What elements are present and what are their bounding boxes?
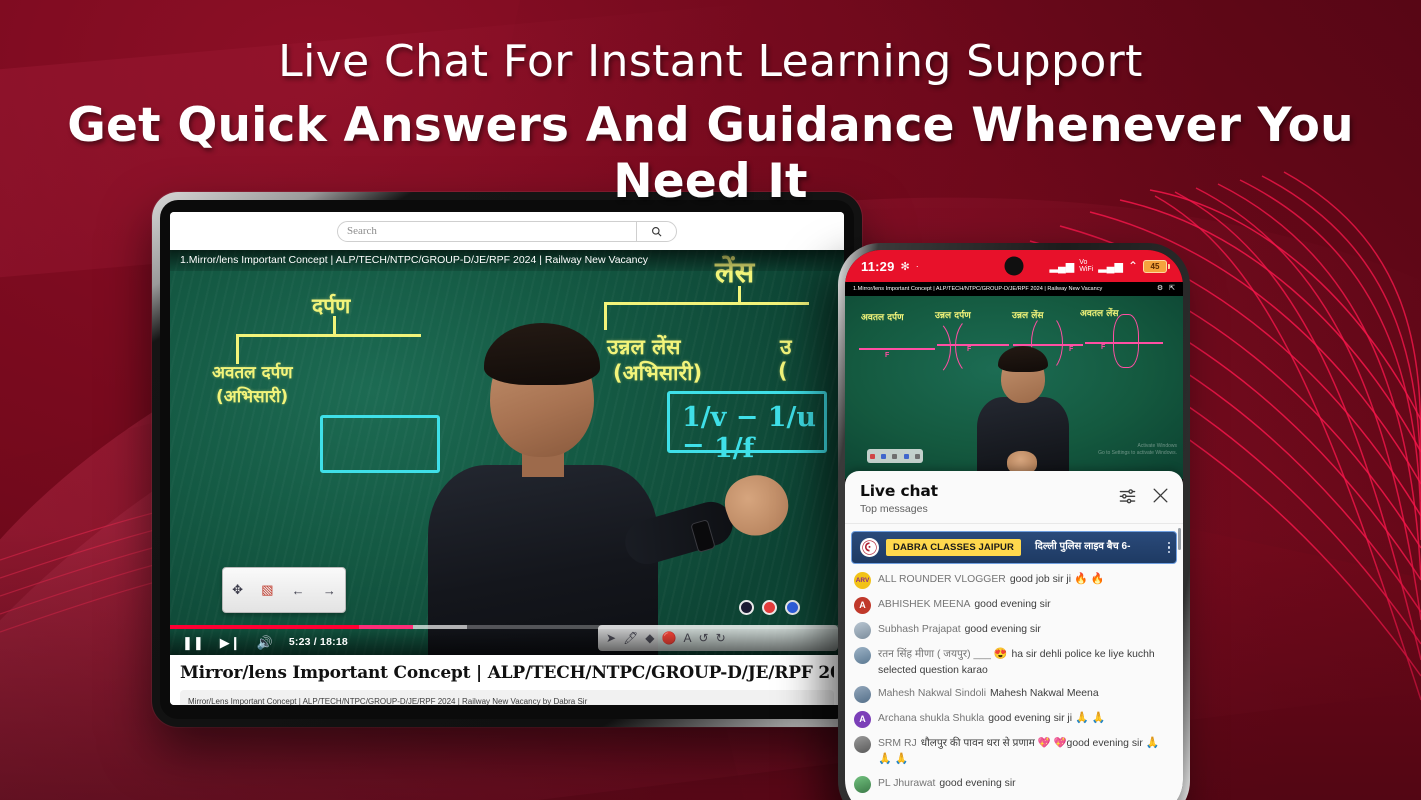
chat-author-name[interactable]: Archana shukla Shukla xyxy=(878,713,984,724)
signal2-icon: ▂▄▆ xyxy=(1098,260,1123,273)
cast-icon[interactable]: ⇱ xyxy=(1169,282,1175,296)
pen-tool-icon[interactable]: ▧ xyxy=(261,582,273,598)
phone-video-title-text: 1.Mirror/lens Important Concept | ALP/TE… xyxy=(853,282,1102,296)
instructor-hair xyxy=(484,323,600,385)
chat-author-name[interactable]: Mahesh Nakwal Sindoli xyxy=(878,688,986,699)
chat-message-text: good evening sir ji xyxy=(988,713,1072,724)
chat-author-name[interactable]: Subhash Prajapat xyxy=(878,624,961,635)
avatar xyxy=(854,622,871,639)
chalk-connector-h-left xyxy=(236,334,421,337)
windows-activation-watermark: Activate Windows Go to Settings to activ… xyxy=(1098,443,1177,457)
avatar xyxy=(854,736,871,753)
phone-device: 11:29 ✻ · ▂▄▆ VoWiFi ▂▄▆ ⌃ 45 1.Mirror/l… xyxy=(838,243,1190,800)
status-bar-right: ▂▄▆ VoWiFi ▂▄▆ ⌃ 45 xyxy=(1050,259,1168,273)
chat-message-body: PL Jhurawatgood evening sir xyxy=(878,776,1016,791)
volume-icon[interactable]: 🔊 xyxy=(257,636,273,649)
signal-icon: ▂▄▆ xyxy=(1050,260,1075,273)
headline-block: Live Chat For Instant Learning Support G… xyxy=(0,36,1421,211)
pen-color-black[interactable] xyxy=(739,600,754,615)
chat-message-row[interactable]: A Archana shukla Shuklagood evening sir … xyxy=(845,707,1183,732)
phone-focus-mark-2: F xyxy=(967,346,971,353)
chat-message-row[interactable]: A ABHISHEK MEENAgood evening sir xyxy=(845,593,1183,618)
chat-message-body: ABHISHEK MEENAgood evening sir xyxy=(878,597,1051,612)
live-chat-titles: Live chat Top messages xyxy=(860,482,1118,515)
chalk-connector-v-right xyxy=(738,286,741,304)
search-bar[interactable]: Search xyxy=(337,221,677,242)
wifi-icon: ⌃ xyxy=(1128,259,1138,273)
phone-lens-arc-4 xyxy=(1113,314,1139,368)
chalk-fourth-label-sub: ( xyxy=(778,359,788,383)
chalk-connector-h-right xyxy=(604,302,809,305)
phone-annotation-tray[interactable] xyxy=(867,449,923,463)
tray-gray-icon[interactable] xyxy=(892,454,897,459)
live-chat-header-actions[interactable] xyxy=(1118,482,1170,505)
phone-instructor-hair xyxy=(998,346,1048,372)
chalk-connector-v-left xyxy=(333,316,336,336)
kebab-icon[interactable] xyxy=(1168,540,1171,556)
chat-message-body: रतन सिंह मीणा ( जयपुर) ___ 😍ha sir dehli… xyxy=(878,647,1169,678)
chat-message-text: good evening sir xyxy=(965,624,1041,635)
phone-video-player[interactable]: अवतल दर्पण उन्नल दर्पण उन्नल लेंस अवतल ल… xyxy=(845,296,1183,479)
video-description[interactable]: Mirror/Lens Important Concept | ALP/TECH… xyxy=(180,690,834,705)
live-chat-messages[interactable]: DABRA CLASSES JAIPUR दिल्ली पुलिस लाइव ब… xyxy=(845,524,1183,800)
chat-message-body: Subhash Prajapatgood evening sir xyxy=(878,622,1041,637)
phone-focus-mark-1: F xyxy=(885,352,889,359)
chat-message-text: good evening sir xyxy=(974,599,1050,610)
dot-icon: · xyxy=(916,261,919,271)
chat-pinned-text: दिल्ली पुलिस लाइव बैच 6- xyxy=(1035,540,1131,555)
chat-message-emojis: 🔥 🔥 xyxy=(1074,573,1104,585)
avatar xyxy=(854,647,871,664)
volte-icon: VoWiFi xyxy=(1079,259,1093,273)
tray-blue-icon[interactable] xyxy=(881,454,886,459)
chalk-mirror-root: दर्पण xyxy=(312,292,350,320)
live-chat-panel: Live chat Top messages xyxy=(845,471,1183,800)
chat-message-body: SRM RJधौलपुर की पावन धरा से प्रणाम 💖 💖go… xyxy=(878,736,1169,768)
chat-message-row[interactable]: ARV ALL ROUNDER VLOGGERgood job sir ji 🔥… xyxy=(845,568,1183,593)
chat-scrollbar[interactable] xyxy=(1178,528,1181,550)
video-controls[interactable]: ❚❚ ▶❙ 🔊 5:23 / 18:18 xyxy=(170,629,844,655)
phone-instructor-figure xyxy=(973,347,1073,479)
headline-line-2: Get Quick Answers And Guidance Whenever … xyxy=(0,98,1421,211)
chat-message-row[interactable]: SRM RJधौलपुर की पावन धरा से प्रणाम 💖 💖go… xyxy=(845,732,1183,772)
chat-message-body: Archana shukla Shuklagood evening sir ji… xyxy=(878,711,1105,727)
chat-message-text: Mahesh Nakwal Meena xyxy=(990,688,1099,699)
search-input[interactable]: Search xyxy=(338,222,636,241)
chat-message-text: good job sir ji xyxy=(1010,574,1071,585)
chat-message-body: ALL ROUNDER VLOGGERgood job sir ji 🔥 🔥 xyxy=(878,572,1104,588)
move-icon[interactable]: ✥ xyxy=(232,582,243,598)
chalk-concave-mirror-sub: (अभिसारी) xyxy=(216,384,288,407)
next-arrow-icon[interactable]: → xyxy=(323,583,336,598)
chat-author-name[interactable]: SRM RJ xyxy=(878,738,917,749)
tablet-device: Search 1.Mirror/lens Important Concept |… xyxy=(152,192,862,727)
chat-author-name[interactable]: ALL ROUNDER VLOGGER xyxy=(878,574,1006,585)
headline-line-1: Live Chat For Instant Learning Support xyxy=(0,36,1421,88)
chat-message-body: Mahesh Nakwal SindoliMahesh Nakwal Meena xyxy=(878,686,1099,701)
video-title: Mirror/lens Important Concept | ALP/TECH… xyxy=(180,663,834,683)
live-chat-title: Live chat xyxy=(860,482,1118,500)
status-time: 11:29 xyxy=(861,259,895,274)
phone-video-title-icons[interactable]: ⚙ ⇱ xyxy=(1157,282,1175,296)
battery-icon: 45 xyxy=(1143,260,1167,273)
bluetooth-icon: ✻ xyxy=(901,260,910,273)
chat-author-name[interactable]: PL Jhurawat xyxy=(878,778,935,789)
chat-message-emojis: 😍 xyxy=(994,648,1008,660)
promo-banner: Live Chat For Instant Learning Support G… xyxy=(0,0,1421,800)
tray-blue2-icon[interactable] xyxy=(904,454,909,459)
chat-message-row[interactable]: Mahesh Nakwal SindoliMahesh Nakwal Meena xyxy=(845,682,1183,707)
tablet-video-player[interactable]: 1.Mirror/lens Important Concept | ALP/TE… xyxy=(170,250,844,655)
video-metadata: Mirror/lens Important Concept | ALP/TECH… xyxy=(170,655,844,705)
chat-author-name[interactable]: ABHISHEK MEENA xyxy=(878,599,970,610)
chalk-fourth-label: उ xyxy=(780,333,792,361)
browser-toolbar: Search xyxy=(170,212,844,250)
watermark-line-2: Go to Settings to activate Windows. xyxy=(1098,450,1177,457)
tablet-bezel: Search 1.Mirror/lens Important Concept |… xyxy=(160,200,854,719)
avatar xyxy=(854,776,871,793)
screen-annotation-toolbar[interactable]: ✥ ▧ ← → xyxy=(222,567,346,613)
live-chat-header: Live chat Top messages xyxy=(845,471,1183,524)
pen-color-red[interactable] xyxy=(762,600,777,615)
avatar: A xyxy=(854,711,871,728)
chat-message-text: good evening sir xyxy=(939,778,1015,789)
watermark-line-1: Activate Windows xyxy=(1098,443,1177,450)
chat-author-name[interactable]: रतन सिंह मीणा ( जयपुर) ___ xyxy=(878,649,991,660)
phone-mirror-arc-1 xyxy=(907,318,951,378)
pause-icon[interactable]: ❚❚ xyxy=(182,636,204,649)
video-time: 5:23 / 18:18 xyxy=(289,636,348,648)
search-icon[interactable] xyxy=(636,222,676,241)
pen-color-picker[interactable] xyxy=(739,600,800,615)
phone-chalk-label-4: अवतल लेंस xyxy=(1080,306,1118,319)
phone-focus-mark-4: F xyxy=(1101,344,1105,351)
status-bar-left: 11:29 ✻ · xyxy=(861,259,919,274)
settings-gear-icon[interactable]: ⚙ xyxy=(1157,282,1163,296)
chat-message-row[interactable]: Subhash Prajapatgood evening sir xyxy=(845,618,1183,643)
chat-message-emojis: 🙏 🙏 xyxy=(1075,712,1105,724)
chat-message-text: धौलपुर की पावन धरा से प्रणाम 💖 💖good eve… xyxy=(921,738,1143,749)
video-overlay-title: 1.Mirror/lens Important Concept | ALP/TE… xyxy=(170,250,844,271)
chat-message-row[interactable]: रतन सिंह मीणा ( जयपुर) ___ 😍ha sir dehli… xyxy=(845,643,1183,682)
live-chat-subtitle[interactable]: Top messages xyxy=(860,503,1118,515)
avatar xyxy=(854,686,871,703)
pen-color-blue[interactable] xyxy=(785,600,800,615)
phone-status-bar: 11:29 ✻ · ▂▄▆ VoWiFi ▂▄▆ ⌃ 45 xyxy=(845,250,1183,282)
avatar: ARV xyxy=(854,572,871,589)
avatar: A xyxy=(854,597,871,614)
prev-arrow-icon[interactable]: ← xyxy=(292,583,305,598)
avatar xyxy=(860,538,879,557)
phone-screen: 11:29 ✻ · ▂▄▆ VoWiFi ▂▄▆ ⌃ 45 1.Mirror/l… xyxy=(845,250,1183,800)
chat-message-row[interactable]: PL Jhurawatgood evening sir xyxy=(845,772,1183,797)
front-camera-icon xyxy=(1005,257,1024,276)
chalk-concave-mirror: अवतल दर्पण xyxy=(212,360,293,383)
chat-author-badge: DABRA CLASSES JAIPUR xyxy=(886,539,1021,556)
tablet-screen: Search 1.Mirror/lens Important Concept |… xyxy=(170,212,844,705)
tray-red-icon[interactable] xyxy=(870,454,875,459)
tray-gray2-icon[interactable] xyxy=(915,454,920,459)
sliders-icon[interactable] xyxy=(1118,486,1137,505)
chalk-lens-formula: 1/v − 1/u = 1/f xyxy=(682,402,844,464)
phone-video-overlay-title: 1.Mirror/lens Important Concept | ALP/TE… xyxy=(845,282,1183,296)
phone-chalk-label-1: अवतल दर्पण xyxy=(861,310,904,323)
chat-message-pinned[interactable]: DABRA CLASSES JAIPUR दिल्ली पुलिस लाइव ब… xyxy=(851,531,1177,564)
next-icon[interactable]: ▶❙ xyxy=(220,636,241,649)
instructor-figure xyxy=(418,325,668,655)
close-icon[interactable] xyxy=(1151,486,1170,505)
description-line-1: Mirror/Lens Important Concept | ALP/TECH… xyxy=(188,696,826,705)
